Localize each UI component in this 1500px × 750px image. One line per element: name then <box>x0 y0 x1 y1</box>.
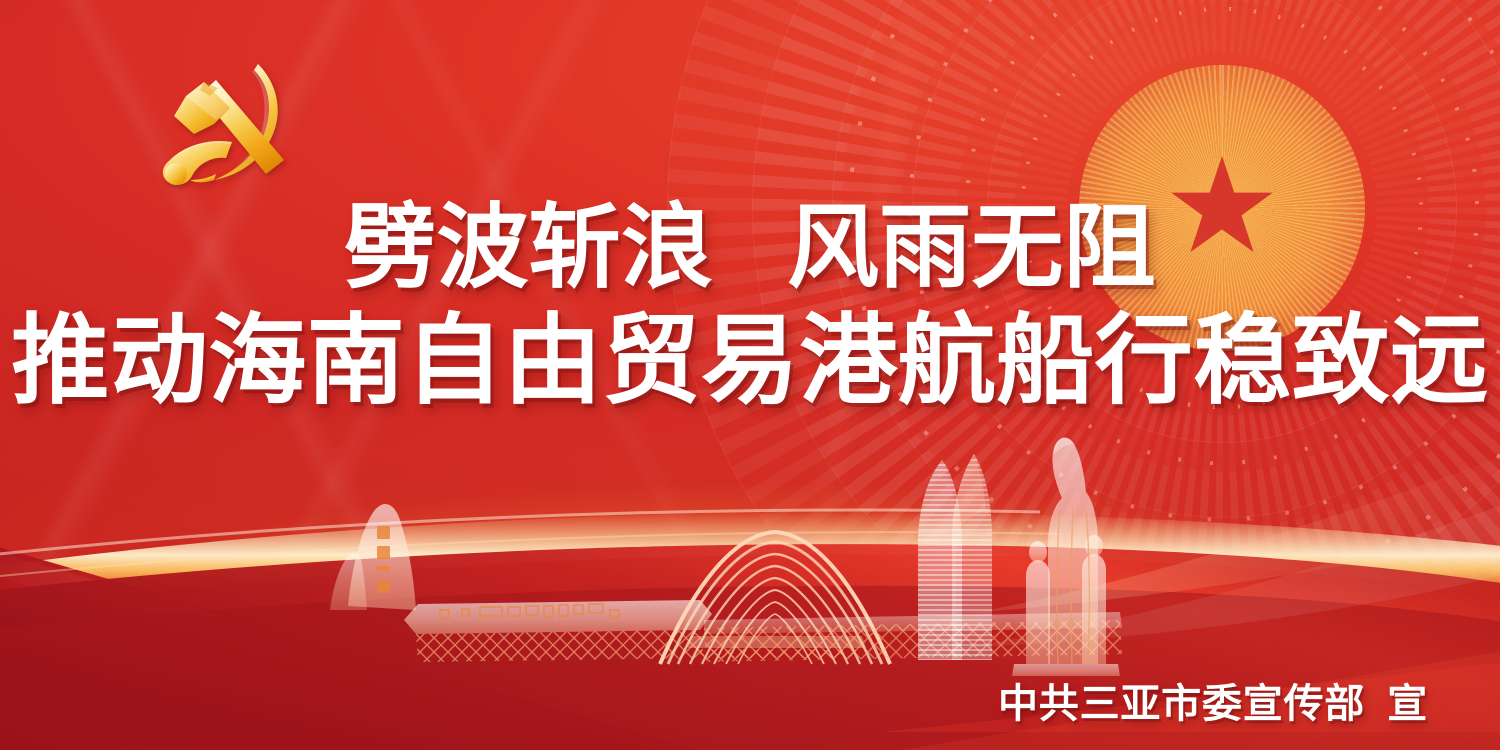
headline-line-2: 推动海南自由贸易港航船行稳致远 <box>0 304 1500 416</box>
headline-line-1-left: 劈波斩浪 <box>344 197 713 299</box>
sanya-skyline-silhouette <box>0 414 1500 704</box>
headline-block: 劈波斩浪风雨无阻 推动海南自由贸易港航船行稳致远 <box>0 196 1500 416</box>
twin-towers <box>918 454 992 660</box>
nantianyizhu-stone <box>330 504 416 610</box>
publisher-signature: 中共三亚市委宣传部宣 <box>998 684 1428 724</box>
publisher-suffix: 宣 <box>1387 682 1428 726</box>
publisher-org: 中共三亚市委宣传部 <box>998 682 1365 726</box>
poster-canvas: 劈波斩浪风雨无阻 推动海南自由贸易港航船行稳致远 中共三亚市委宣传部宣 <box>0 0 1500 750</box>
cpc-hammer-sickle-emblem <box>146 52 314 192</box>
guanyin-statue <box>1012 438 1120 676</box>
headline-line-1: 劈波斩浪风雨无阻 <box>0 196 1500 300</box>
headline-line-1-right: 风雨无阻 <box>787 197 1156 299</box>
